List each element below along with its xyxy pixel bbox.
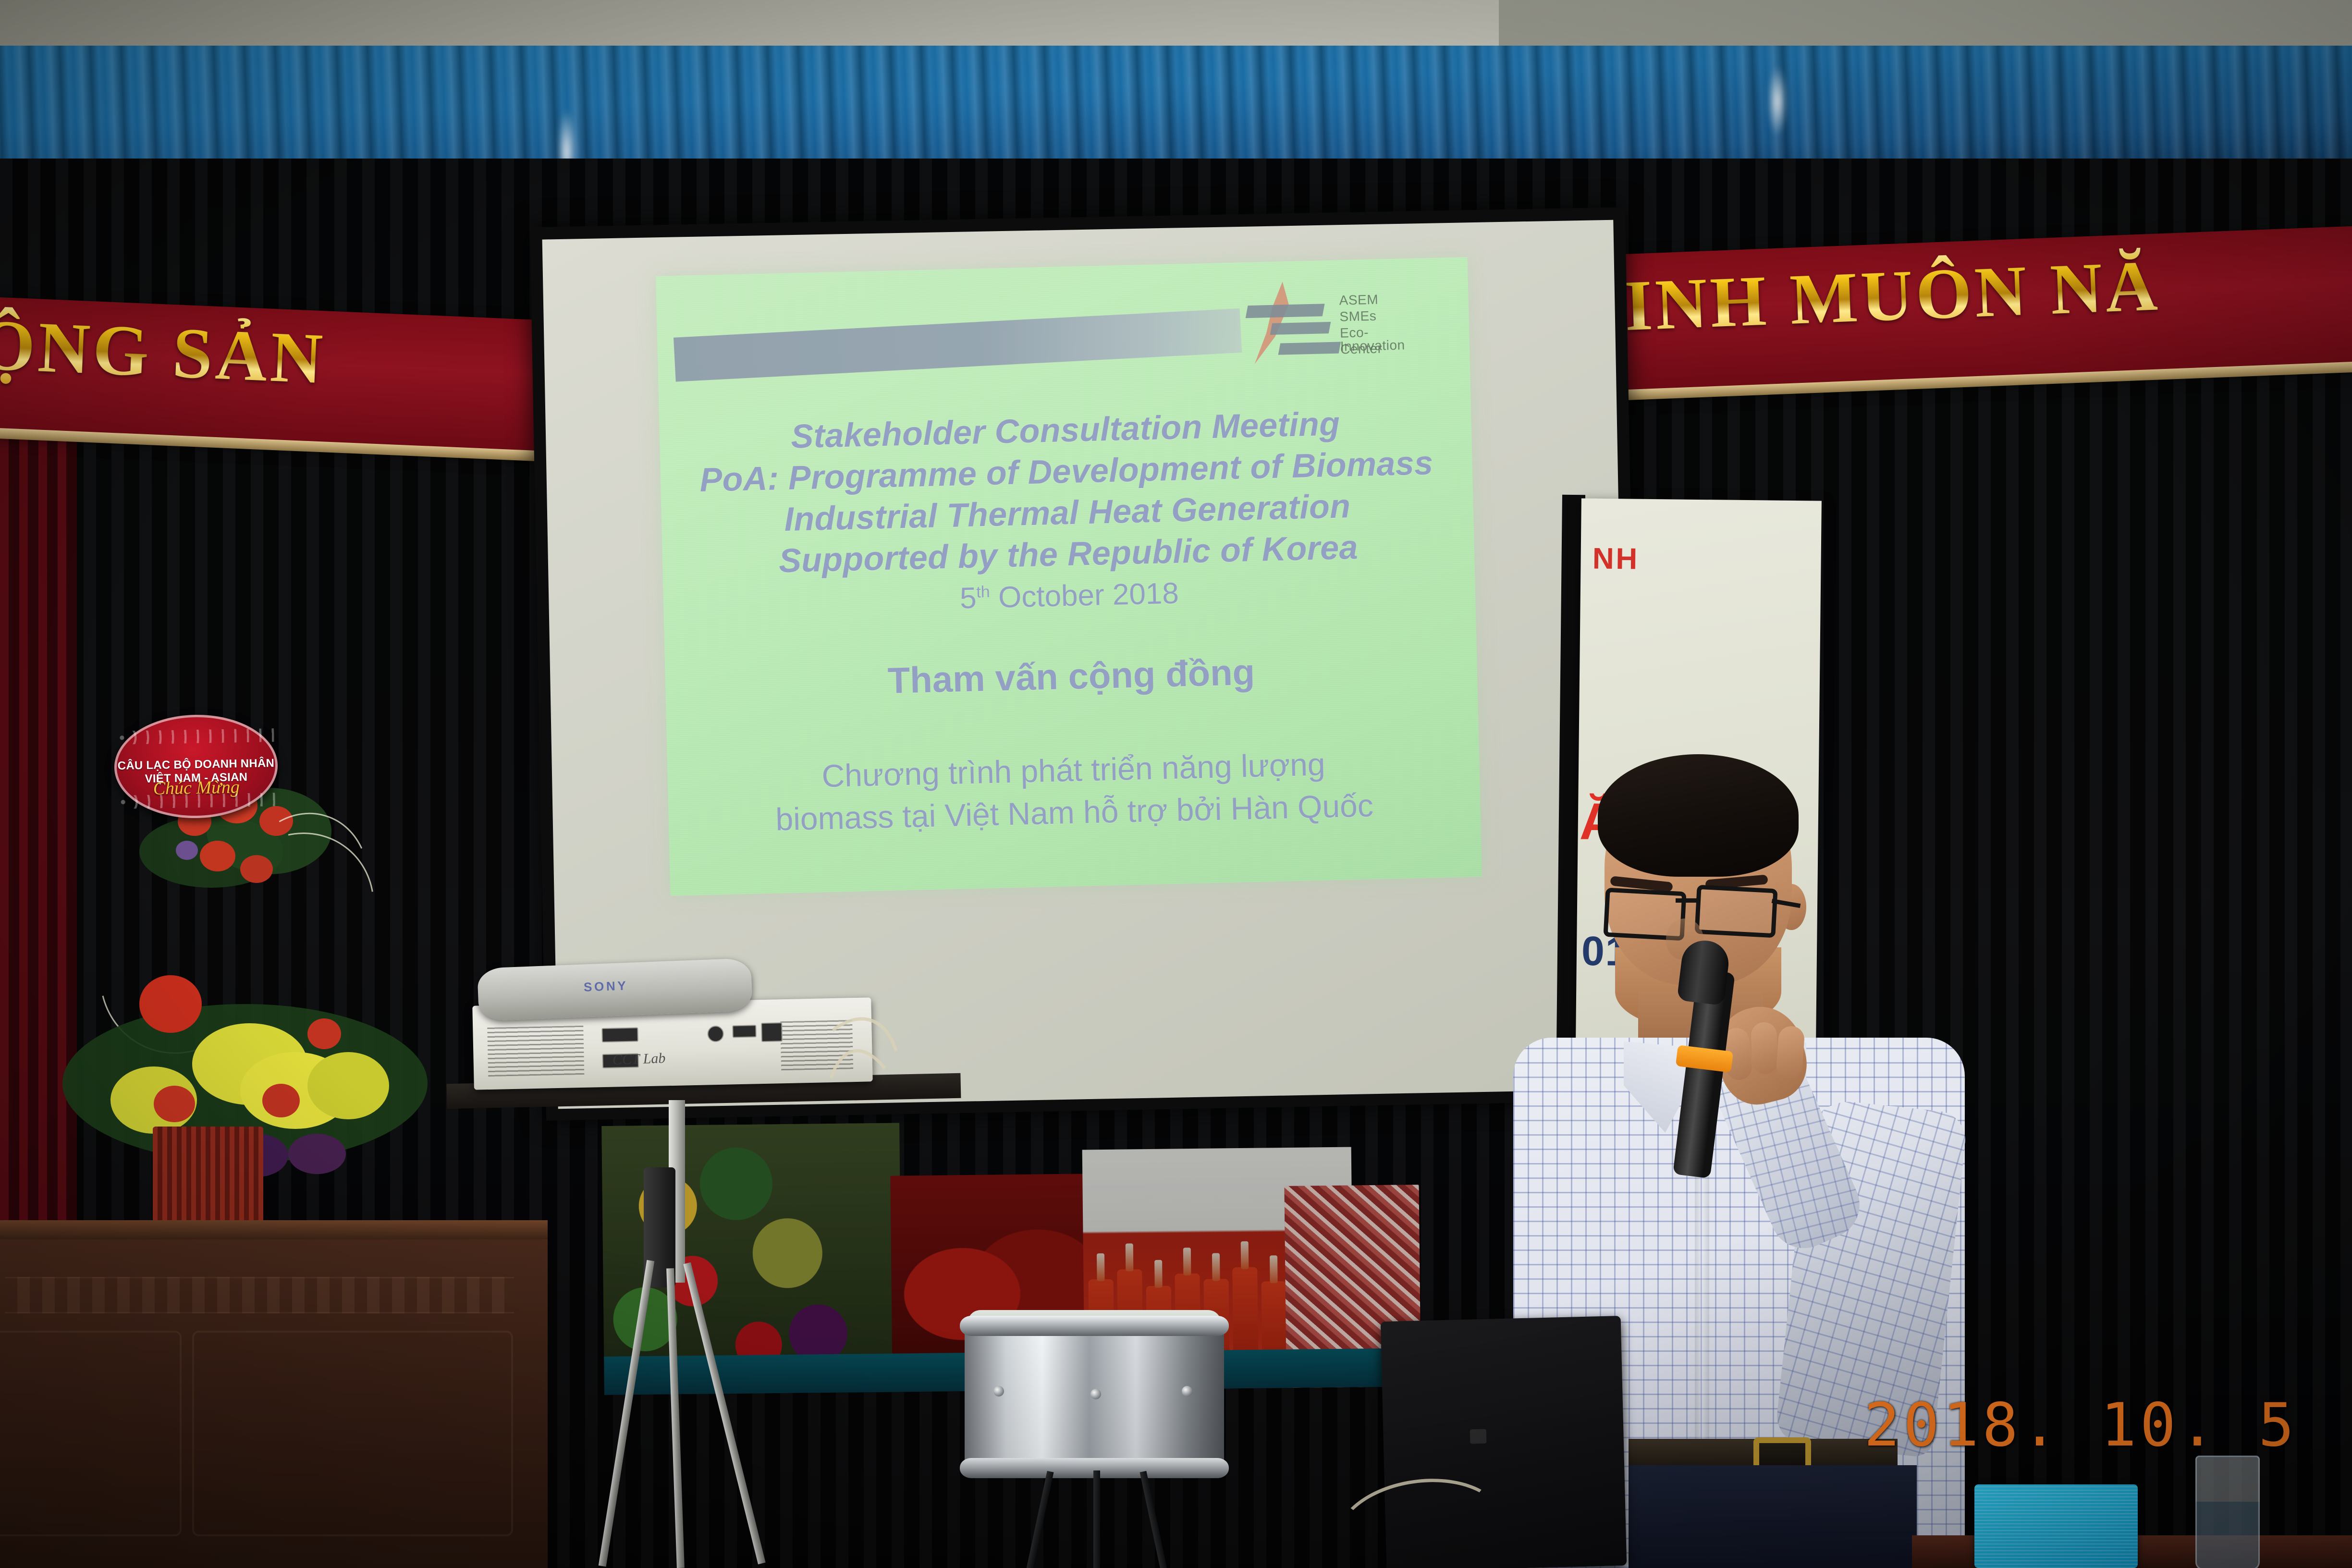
trousers xyxy=(1629,1465,1917,1568)
podium-scroll-carving xyxy=(5,1277,514,1313)
red-side-curtain xyxy=(0,423,77,1335)
eyeglass-lens-right xyxy=(1694,885,1777,938)
podium-panel-left xyxy=(0,1331,182,1536)
presentation-slide: ASEM SMEs Eco-Innovation Center Stakehol… xyxy=(656,257,1482,895)
snare-drum xyxy=(965,1299,1224,1492)
logo-line-4: Center xyxy=(1340,342,1383,356)
banner-right-text: VINH MUÔN NĂ xyxy=(1568,244,2162,349)
hair xyxy=(1598,754,1799,877)
slide-date-day: 5 xyxy=(959,582,977,615)
slide-date-rest: October 2018 xyxy=(990,577,1179,614)
banner-left-text: CỘNG SẢN xyxy=(0,301,327,400)
podium-panel-right xyxy=(192,1331,513,1536)
bluetooth-speaker[interactable] xyxy=(1974,1484,2138,1568)
laptop-lid-logo xyxy=(1470,1429,1487,1444)
camera-timestamp: 2018. 10. 5 xyxy=(1864,1391,2298,1460)
drinking-glass xyxy=(2195,1456,2260,1568)
slide-date-suffix: th xyxy=(976,583,990,601)
logo-line-2: SMEs xyxy=(1339,309,1377,324)
logo-line-1: ASEM xyxy=(1339,293,1378,307)
drum-stand-leg-center xyxy=(1093,1470,1100,1568)
finger-3 xyxy=(1776,1025,1805,1079)
projector-brand-label: SONY xyxy=(583,978,628,995)
poster-text-nh: NH xyxy=(1592,541,1640,576)
podium-top-edge xyxy=(0,1220,548,1239)
projector-handwritten-label: CCT Lab xyxy=(612,1050,665,1068)
photo-scene: CỘNG SẢN VINH MUÔN NĂ ASEM SMEs Eco-Inno… xyxy=(0,0,2352,1568)
finger-2 xyxy=(1751,1022,1778,1075)
red-banner-left: CỘNG SẢN xyxy=(0,295,540,454)
eyeglass-bridge xyxy=(1676,898,1697,903)
asem-smes-eco-innovation-logo: ASEM SMEs Eco-Innovation Center xyxy=(1236,274,1430,367)
